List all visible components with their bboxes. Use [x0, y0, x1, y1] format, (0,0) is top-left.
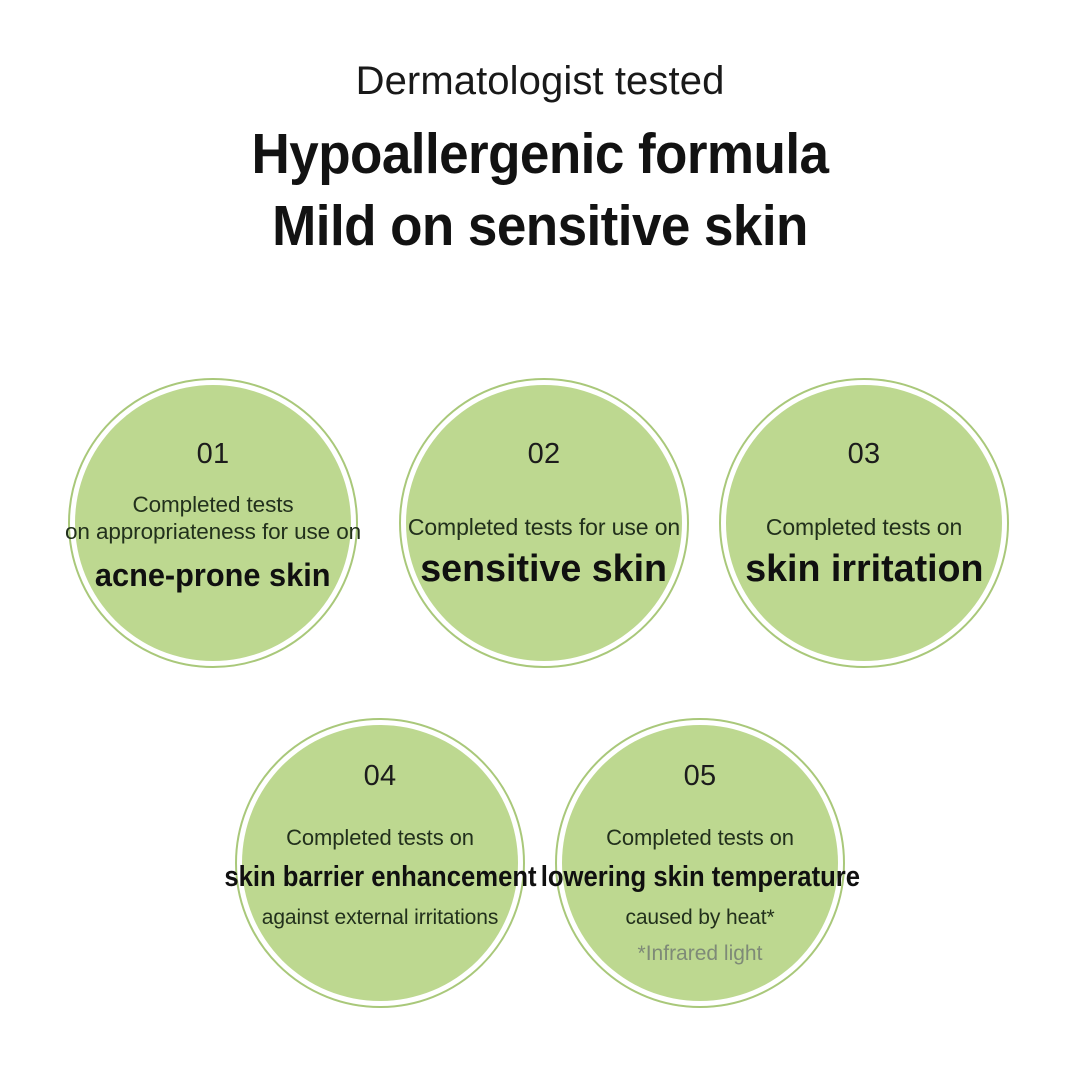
claim-bold-03: skin irritation	[745, 549, 983, 591]
claim-regular-02-a: Completed tests for use on	[408, 513, 680, 541]
claim-footnote-05: *Infrared light	[638, 941, 763, 966]
claim-number-02: 02	[528, 440, 561, 469]
claim-content-02: 02 Completed tests for use on sensitive …	[377, 378, 711, 668]
claim-bold-01: acne-prone skin	[95, 558, 331, 593]
headline-line-2: Mild on sensitive skin	[38, 191, 1042, 263]
headline-line-1: Hypoallergenic formula	[38, 119, 1042, 191]
claim-regular-05-a: Completed tests on	[606, 825, 794, 852]
claim-regular-05-b: caused by heat*	[625, 905, 774, 931]
claim-regular-03-a: Completed tests on	[766, 513, 962, 541]
claim-content-01: 01 Completed tests on appropriateness fo…	[46, 378, 380, 668]
claim-circle-03: 03 Completed tests on skin irritation	[719, 378, 1009, 668]
claim-regular-01-b: on appropriateness for use on	[65, 518, 361, 545]
promo-graphic: Dermatologist tested Hypoallergenic form…	[0, 0, 1080, 1080]
claim-number-04: 04	[364, 762, 397, 791]
claim-content-03: 03 Completed tests on skin irritation	[697, 378, 1031, 668]
claim-bold-04: skin barrier enhancement	[224, 862, 536, 893]
claim-number-05: 05	[684, 762, 717, 791]
claim-regular-01-a: Completed tests	[132, 491, 293, 518]
header-block: Dermatologist tested Hypoallergenic form…	[0, 58, 1080, 263]
claim-bold-02: sensitive skin	[421, 549, 668, 591]
claim-circle-01: 01 Completed tests on appropriateness fo…	[68, 378, 358, 668]
claim-circle-04: 04 Completed tests on skin barrier enhan…	[235, 718, 525, 1008]
claim-bold-05: lowering skin temperature	[540, 862, 859, 893]
claim-circle-02: 02 Completed tests for use on sensitive …	[399, 378, 689, 668]
claim-regular-04-b: against external irritations	[262, 905, 499, 931]
claim-content-05: 05 Completed tests on lowering skin temp…	[533, 718, 867, 1008]
claim-regular-04-a: Completed tests on	[286, 825, 474, 852]
claim-content-04: 04 Completed tests on skin barrier enhan…	[213, 718, 547, 1008]
page-title: Hypoallergenic formula Mild on sensitive…	[38, 119, 1042, 263]
claim-number-03: 03	[848, 440, 881, 469]
claim-number-01: 01	[197, 440, 230, 469]
claim-circle-05: 05 Completed tests on lowering skin temp…	[555, 718, 845, 1008]
eyebrow-text: Dermatologist tested	[0, 58, 1080, 105]
